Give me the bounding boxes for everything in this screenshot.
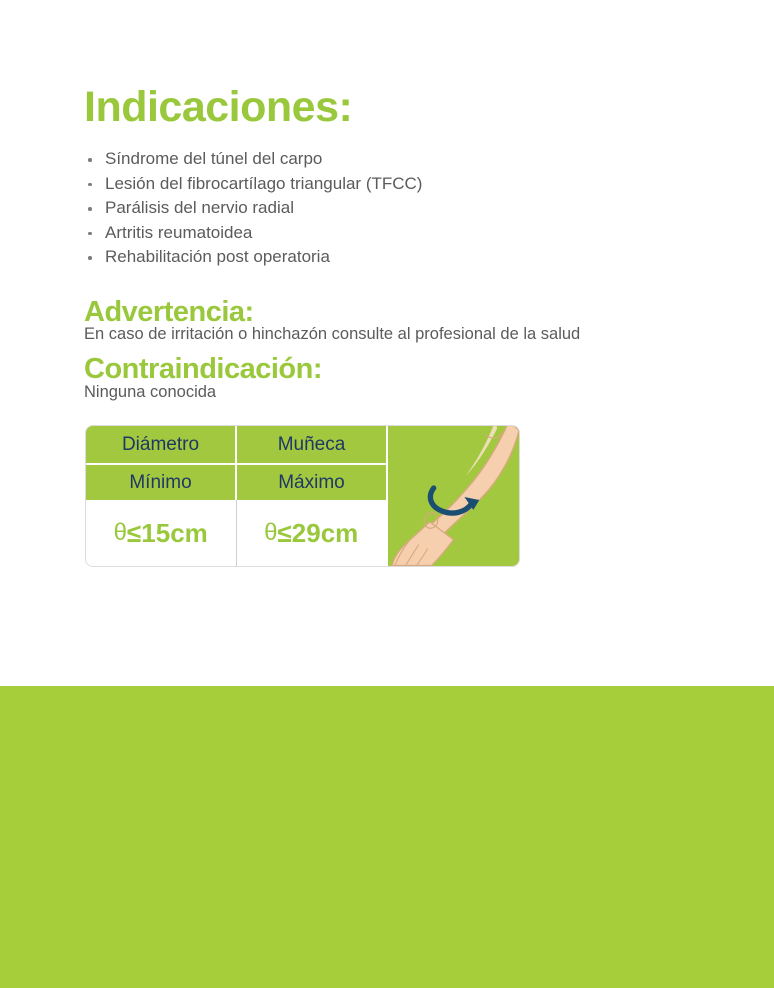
warning-title: Advertencia: [84,298,254,327]
wrist-measure-icon [388,426,519,566]
indications-title: Indicaciones: [84,86,352,129]
list-item: Síndrome del túnel del carpo [84,147,422,172]
size-table-value-min-number: ≤15cm [127,518,208,549]
theta-symbol: θ [264,519,277,547]
indications-list: Síndrome del túnel del carpo Lesión del … [84,147,422,270]
product-info-page: Indicaciones: Síndrome del túnel del car… [0,0,774,988]
contraindication-text: Ninguna conocida [84,383,216,402]
size-table-columns: Diámetro Muñeca Mínimo Máximo θ≤15cm θ≤2… [86,426,386,566]
warranty-band: GARANTÍA 30 DÍAS POR DEFECTOS DE FABRICA… [0,686,774,988]
list-item: Rehabilitación post operatoria [84,245,422,270]
size-table-value-max: θ≤29cm [237,500,387,566]
list-item: Artritis reumatoidea [84,221,422,246]
size-table-value-min: θ≤15cm [86,500,237,566]
size-table-header-wrist: Muñeca [237,426,386,463]
top-content-area: Indicaciones: Síndrome del túnel del car… [0,0,774,686]
size-table-subheader-min: Mínimo [86,463,237,500]
size-table: Diámetro Muñeca Mínimo Máximo θ≤15cm θ≤2… [86,426,519,566]
size-table-value-max-number: ≤29cm [278,518,359,549]
size-table-value-row: θ≤15cm θ≤29cm [86,500,386,566]
contraindication-title: Contraindicación: [84,355,322,384]
size-table-header-diameter: Diámetro [86,426,237,463]
size-table-subheader-row: Mínimo Máximo [86,463,386,500]
size-table-header-row: Diámetro Muñeca [86,426,386,463]
theta-symbol: θ [114,519,127,547]
list-item: Parálisis del nervio radial [84,196,422,221]
warning-text: En caso de irritación o hinchazón consul… [84,325,580,344]
wrist-measure-illustration [386,426,519,566]
size-table-subheader-max: Máximo [237,463,386,500]
list-item: Lesión del fibrocartílago triangular (TF… [84,172,422,197]
